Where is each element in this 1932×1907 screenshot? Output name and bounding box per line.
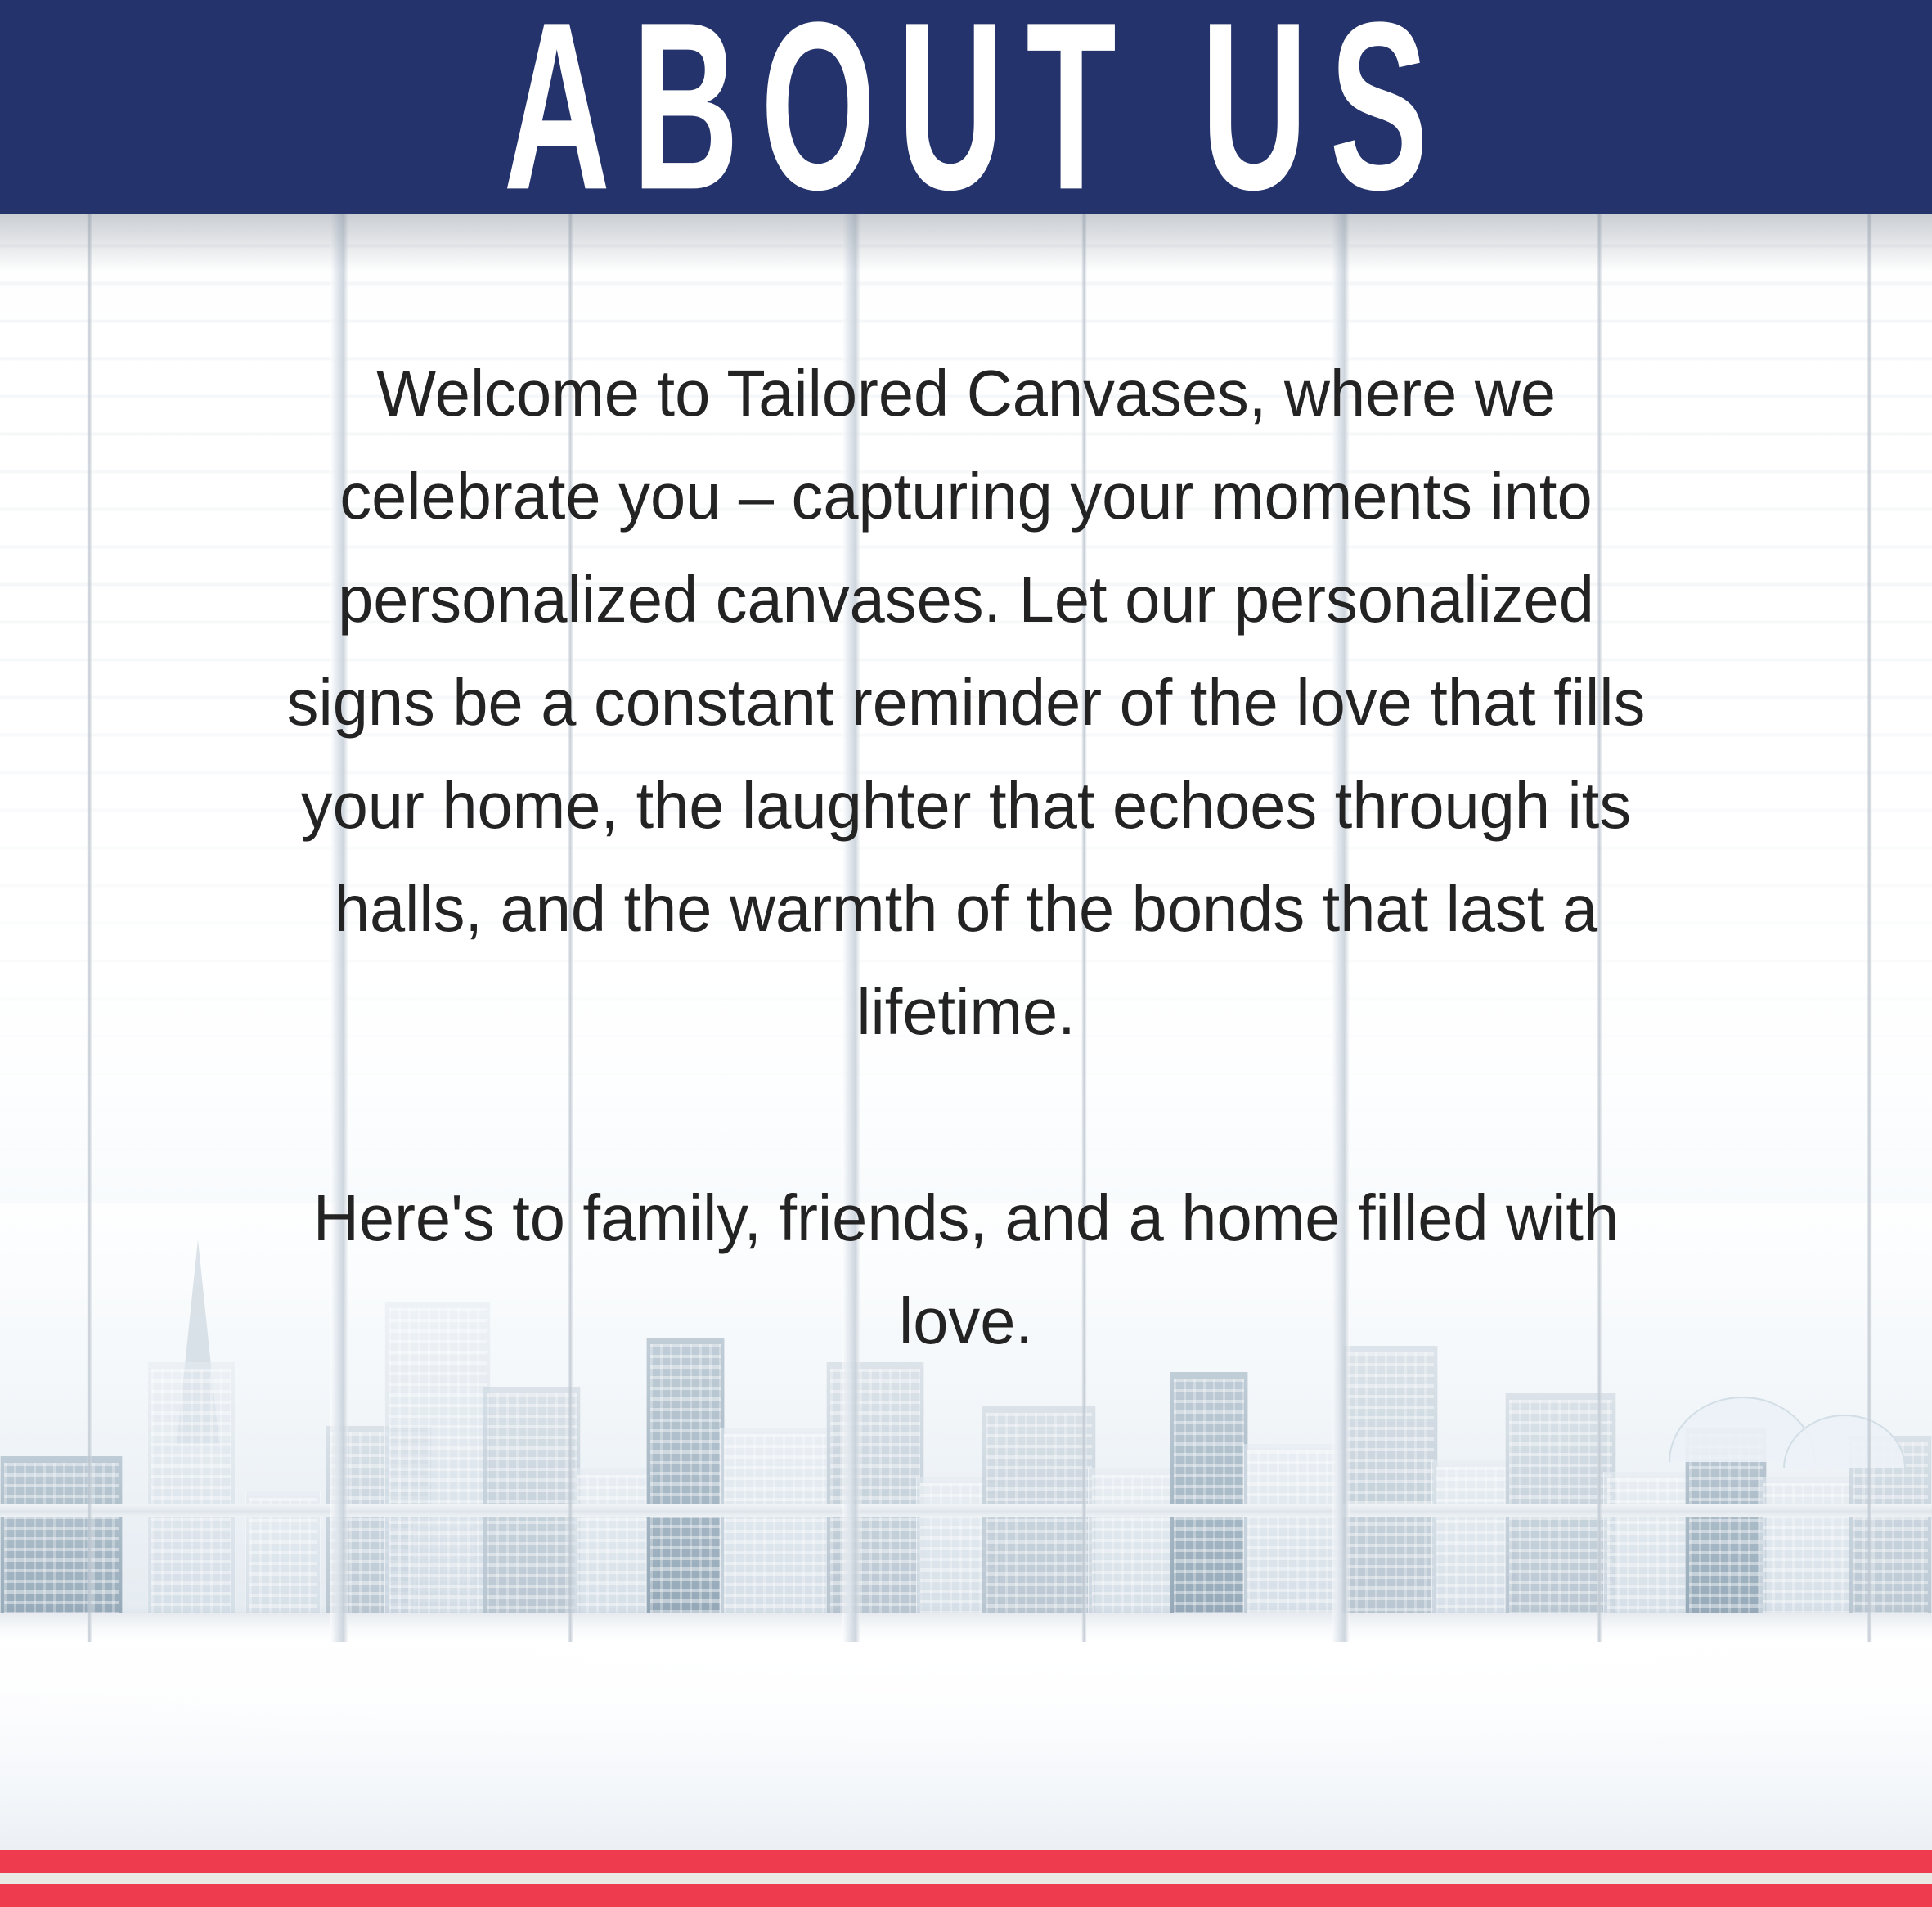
- about-us-poster: ABOUT US Welcome to Tailored Canvases, w…: [0, 0, 1932, 1907]
- footer-stripe-bottom: [0, 1884, 1932, 1907]
- about-paragraph-2: Here's to family, friends, and a home fi…: [284, 1167, 1648, 1373]
- header-banner: ABOUT US: [0, 0, 1932, 214]
- about-us-body: Welcome to Tailored Canvases, where we c…: [263, 342, 1669, 1373]
- about-paragraph-1: Welcome to Tailored Canvases, where we c…: [284, 342, 1648, 1064]
- footer-stripe-top: [0, 1850, 1932, 1873]
- footer-stripe-gap: [0, 1873, 1932, 1884]
- page-title: ABOUT US: [482, 0, 1450, 215]
- paragraph-spacer: [263, 1064, 1669, 1167]
- founder-signature-block: Harley Founder of Tailored Canvases: [0, 1383, 1932, 1792]
